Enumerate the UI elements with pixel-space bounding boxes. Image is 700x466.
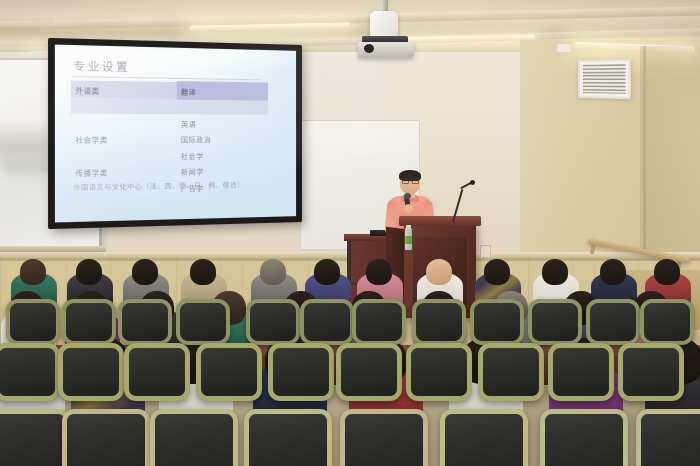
projection-screen: 专业设置 外语类翻译英语社会学类国际政治社会学传播学类新闻学广告学 外国语言与文… (48, 38, 302, 229)
attendee-back-right-2 (366, 259, 392, 285)
auditorium-seat[interactable] (124, 343, 190, 401)
attendee-back-right-1 (314, 259, 340, 285)
attendee-back-mid-1 (190, 259, 216, 285)
attendee-back-left-2 (76, 259, 102, 285)
slide-table-cell-category: 外语类 (71, 79, 177, 99)
glasses-lens-left (402, 180, 409, 184)
ceiling-vent-small (30, 18, 54, 25)
auditorium-seat[interactable] (268, 343, 334, 401)
attendee-mid-left-1 (426, 259, 452, 285)
slide-table-cell-major (177, 106, 268, 107)
slide-title: 专业设置 (73, 58, 130, 75)
auditorium-seat[interactable] (528, 299, 582, 345)
auditorium-seat[interactable] (540, 409, 628, 466)
water-bottle-cap (406, 225, 411, 229)
auditorium-seat[interactable] (586, 299, 640, 345)
water-bottle-label (405, 236, 412, 244)
attendee-mid-mid-1 (542, 259, 568, 285)
microphone-head (404, 193, 411, 199)
auditorium-seat[interactable] (246, 299, 300, 345)
auditorium-seat[interactable] (0, 409, 70, 466)
auditorium-seat[interactable] (440, 409, 528, 466)
auditorium-seat[interactable] (340, 409, 428, 466)
auditorium-seat[interactable] (470, 299, 524, 345)
slide-table-row: 英语 (71, 114, 268, 131)
auditorium-seat[interactable] (176, 299, 230, 345)
slide-cell-text: 英语 (181, 120, 196, 128)
slide-table-cell-category: 社会学类 (71, 129, 177, 148)
auditorium-seat[interactable] (118, 299, 172, 345)
slide-cell-text: 社会学类 (75, 136, 107, 145)
gooseneck-microphone-icon (470, 180, 475, 185)
auditorium-seat[interactable] (150, 409, 238, 466)
auditorium-seat[interactable] (62, 299, 116, 345)
auditorium-seat[interactable] (6, 299, 60, 345)
attendee-back-mid-2 (260, 259, 286, 285)
ceiling-projector-icon (370, 11, 398, 39)
vent-slats (583, 64, 626, 93)
slide-cell-text: 翻译 (181, 88, 196, 96)
attendee-back-left-3 (132, 259, 158, 285)
auditorium-seat[interactable] (636, 409, 700, 466)
slide-cell-text: 新闻学 (181, 168, 204, 177)
slide-table-cell-category: 传播学类 (71, 161, 177, 181)
attendee-mid-right-1 (600, 259, 626, 285)
auditorium-seat[interactable] (196, 343, 262, 401)
slide-table-cell-category (71, 155, 177, 156)
slide-table-cell-major: 翻译 (177, 81, 268, 101)
auditorium-seat[interactable] (58, 343, 124, 401)
auditorium-seat[interactable] (548, 343, 614, 401)
auditorium-seat[interactable] (406, 343, 472, 401)
attendee-back-left-1 (20, 259, 46, 285)
attendee-mid-left-2 (484, 259, 510, 285)
auditorium-seat[interactable] (300, 299, 354, 345)
slide-cell-text: 传播学类 (75, 169, 107, 178)
auditorium-seat[interactable] (618, 343, 684, 401)
whiteboard-marker-tray (0, 246, 106, 252)
wall-outlet-icon (480, 245, 491, 258)
auditorium-seat[interactable] (478, 343, 544, 401)
lecture-hall-scene: 专业设置 外语类翻译英语社会学类国际政治社会学传播学类新闻学广告学 外国语言与文… (0, 0, 700, 466)
air-conditioning-vent-icon (578, 59, 631, 99)
glasses-lens-right (412, 180, 419, 184)
auditorium-seat[interactable] (352, 299, 406, 345)
attendee-mid-right-2 (654, 259, 680, 285)
speaker-hand (404, 204, 413, 213)
podium-top-surface (399, 216, 481, 226)
slide-cell-text: 国际政治 (181, 136, 211, 144)
auditorium-seat[interactable] (412, 299, 466, 345)
projector-lens-icon (364, 44, 374, 53)
audience-seating (0, 268, 700, 466)
slide-table-header-row: 外语类翻译 (71, 80, 268, 99)
auditorium-seat[interactable] (244, 409, 332, 466)
auditorium-seat[interactable] (640, 299, 694, 345)
slide-table-cell-category (71, 105, 177, 106)
slide-cell-text: 社会学 (181, 152, 204, 160)
slide-cell-text: 外语类 (75, 87, 99, 96)
auditorium-seat[interactable] (0, 343, 60, 401)
auditorium-seat[interactable] (336, 343, 402, 401)
auditorium-seat[interactable] (62, 409, 150, 466)
projection-screen-surface: 专业设置 外语类翻译英语社会学类国际政治社会学传播学类新闻学广告学 外国语言与文… (55, 45, 296, 223)
wall-plate (556, 43, 571, 53)
